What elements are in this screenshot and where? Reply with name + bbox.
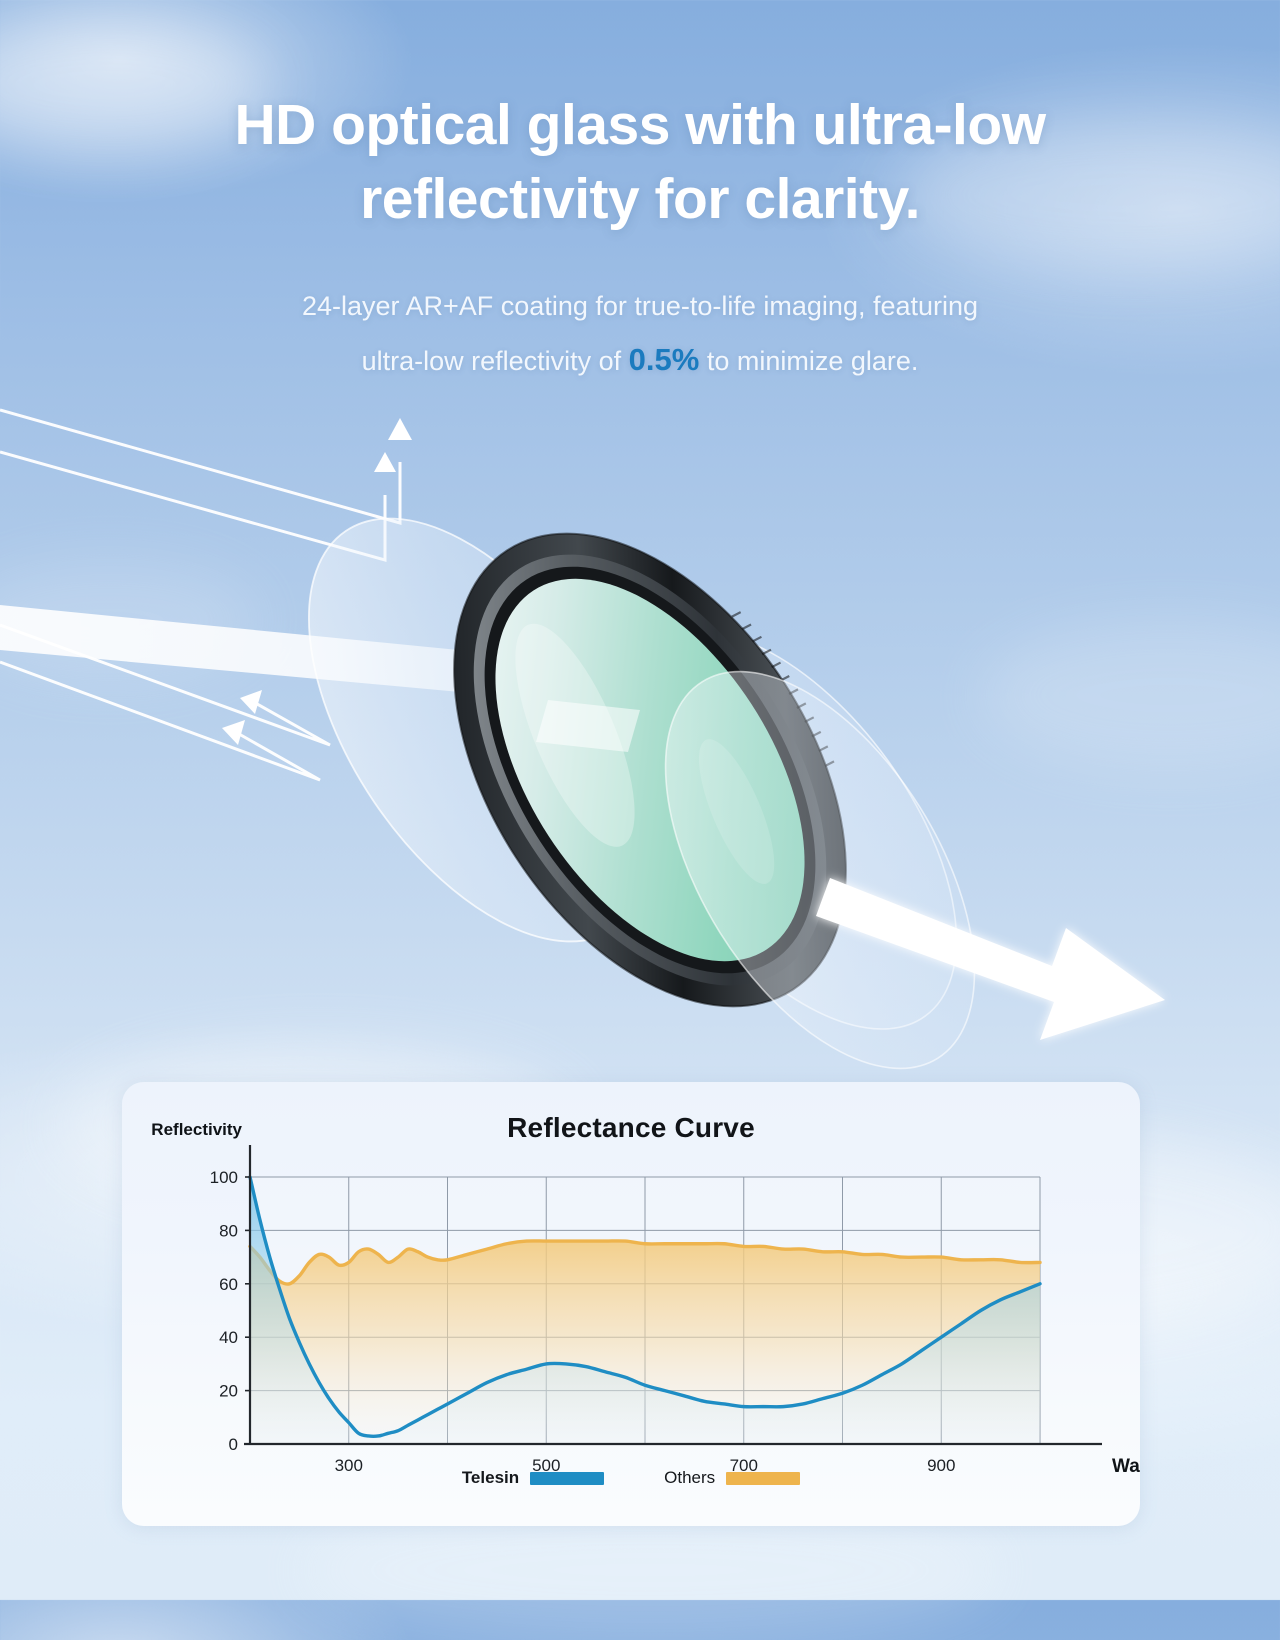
page-title: HD optical glass with ultra-low reflecti…	[0, 0, 1280, 236]
svg-text:80: 80	[219, 1221, 238, 1240]
chart-legend: Telesin Others	[122, 1468, 1140, 1488]
headline-line-1: HD optical glass with ultra-low	[0, 88, 1280, 162]
svg-text:0: 0	[229, 1435, 238, 1454]
legend-swatch-others	[726, 1472, 800, 1485]
legend-item-telesin[interactable]: Telesin	[462, 1468, 604, 1488]
legend-swatch-telesin	[530, 1472, 604, 1485]
legend-label-others: Others	[664, 1468, 715, 1488]
legend-label-telesin: Telesin	[462, 1468, 519, 1488]
subtitle-prefix: ultra-low reflectivity of	[362, 346, 629, 376]
reflectivity-value: 0.5%	[629, 342, 700, 377]
reflectance-chart-card: Reflectance Curve 0204060801003005007009…	[122, 1082, 1140, 1526]
headline-line-2: reflectivity for clarity.	[0, 162, 1280, 236]
chart-plot: 020406080100300500700900ReflectivityWave…	[122, 1082, 1140, 1526]
legend-item-others[interactable]: Others	[664, 1468, 800, 1488]
subtitle-line-2: ultra-low reflectivity of 0.5% to minimi…	[0, 333, 1280, 388]
page-header: HD optical glass with ultra-low reflecti…	[0, 0, 1280, 388]
svg-text:60: 60	[219, 1275, 238, 1294]
subtitle-line-1: 24-layer AR+AF coating for true-to-life …	[0, 280, 1280, 333]
svg-text:20: 20	[219, 1382, 238, 1401]
subtitle-suffix: to minimize glare.	[699, 346, 918, 376]
svg-text:100: 100	[210, 1168, 238, 1187]
svg-text:40: 40	[219, 1328, 238, 1347]
page-subtitle: 24-layer AR+AF coating for true-to-life …	[0, 280, 1280, 388]
hero-illustration	[0, 400, 1280, 1080]
svg-text:Reflectivity: Reflectivity	[151, 1120, 242, 1139]
